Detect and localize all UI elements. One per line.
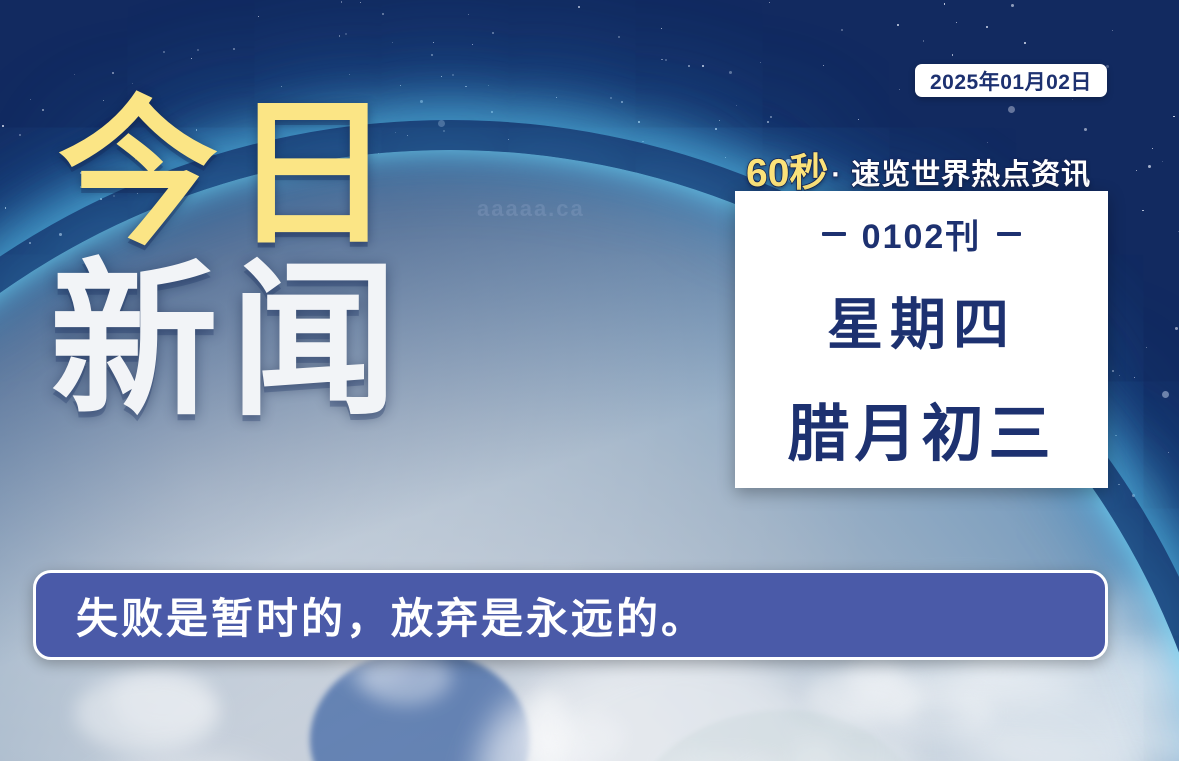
news-poster: aaaaa.ca 今日 新闻 2025年01月02日 60秒 · 速览世界热点资…	[0, 0, 1179, 761]
date-badge: 2025年01月02日	[915, 64, 1107, 97]
dash-left-icon	[822, 232, 846, 236]
quote-text: 失败是暂时的，放弃是永远的。	[76, 585, 706, 646]
headline-line-1: 今日	[58, 96, 410, 253]
lunar-date-label: 腊月初三	[787, 383, 1055, 473]
tagline: 60秒 · 速览世界热点资讯	[746, 142, 1091, 198]
tagline-text: · 速览世界热点资讯	[831, 151, 1091, 193]
weekday-label: 星期四	[827, 280, 1016, 361]
dash-right-icon	[997, 232, 1021, 236]
quote-banner: 失败是暂时的，放弃是永远的。	[33, 570, 1108, 660]
watermark-text: aaaaa.ca	[477, 196, 585, 222]
issue-number-row: 0102刊	[822, 209, 1022, 258]
issue-info-card: 0102刊 星期四 腊月初三	[735, 191, 1108, 488]
tagline-highlight: 60秒	[746, 142, 828, 198]
issue-number: 0102刊	[862, 209, 982, 258]
headline: 今日 新闻	[58, 96, 410, 423]
headline-line-2: 新闻	[50, 259, 410, 424]
